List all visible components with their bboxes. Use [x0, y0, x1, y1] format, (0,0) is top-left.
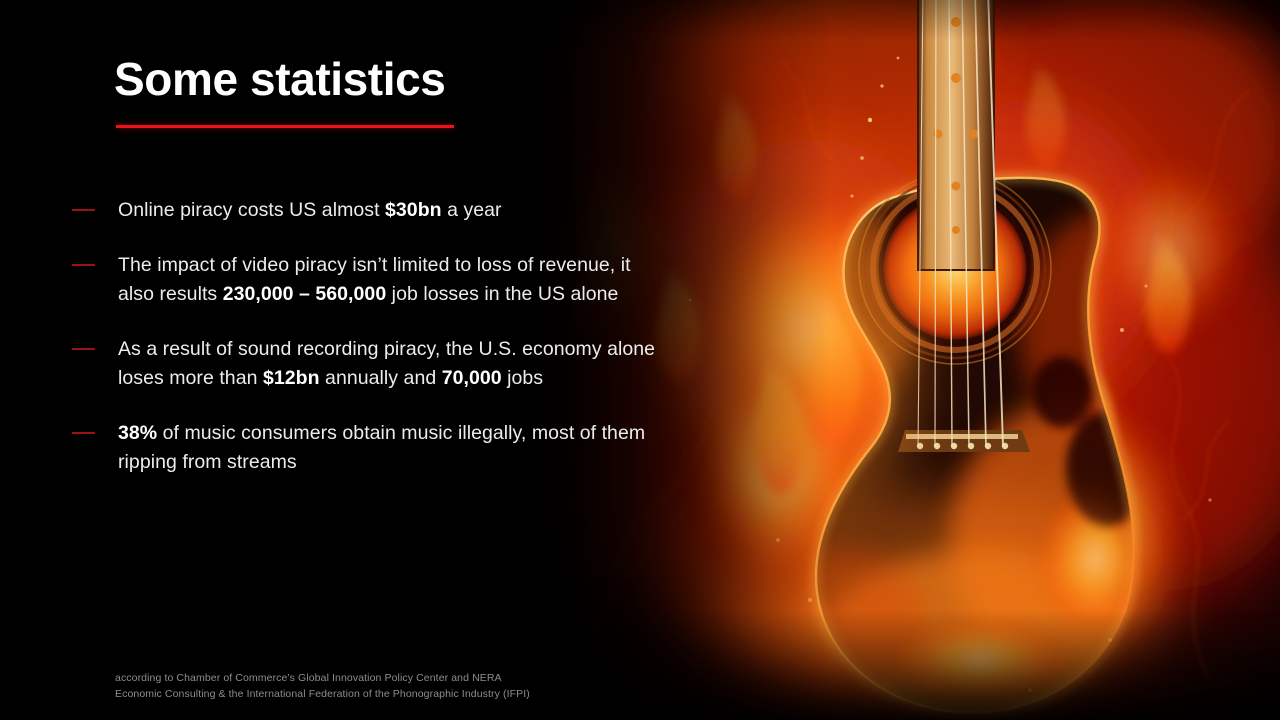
slide-content: Some statistics Online piracy costs US a…: [0, 0, 680, 720]
source-footnote: according to Chamber of Commerce’s Globa…: [115, 670, 615, 702]
slide-root: Some statistics Online piracy costs US a…: [0, 0, 1280, 720]
list-item-text: The impact of video piracy isn’t limited…: [118, 254, 631, 305]
list-item-text: As a result of sound recording piracy, t…: [118, 338, 655, 389]
list-item: As a result of sound recording piracy, t…: [72, 335, 662, 393]
bullet-dash-icon: [72, 348, 95, 350]
guitar-neck: [918, 0, 994, 270]
bullet-dash-icon: [72, 432, 95, 434]
page-title: Some statistics: [114, 54, 445, 105]
list-item: Online piracy costs US almost $30bn a ye…: [72, 196, 662, 225]
statistics-list: Online piracy costs US almost $30bn a ye…: [72, 196, 662, 503]
footnote-line-2: Economic Consulting & the International …: [115, 686, 615, 702]
list-item-text: 38% of music consumers obtain music ille…: [118, 422, 645, 473]
list-item-text: Online piracy costs US almost $30bn a ye…: [118, 199, 502, 221]
bullet-dash-icon: [72, 209, 95, 211]
title-underline-accent: [116, 125, 454, 128]
list-item: The impact of video piracy isn’t limited…: [72, 251, 662, 309]
bullet-dash-icon: [72, 264, 95, 266]
list-item: 38% of music consumers obtain music ille…: [72, 419, 662, 477]
footnote-line-1: according to Chamber of Commerce’s Globa…: [115, 670, 615, 686]
